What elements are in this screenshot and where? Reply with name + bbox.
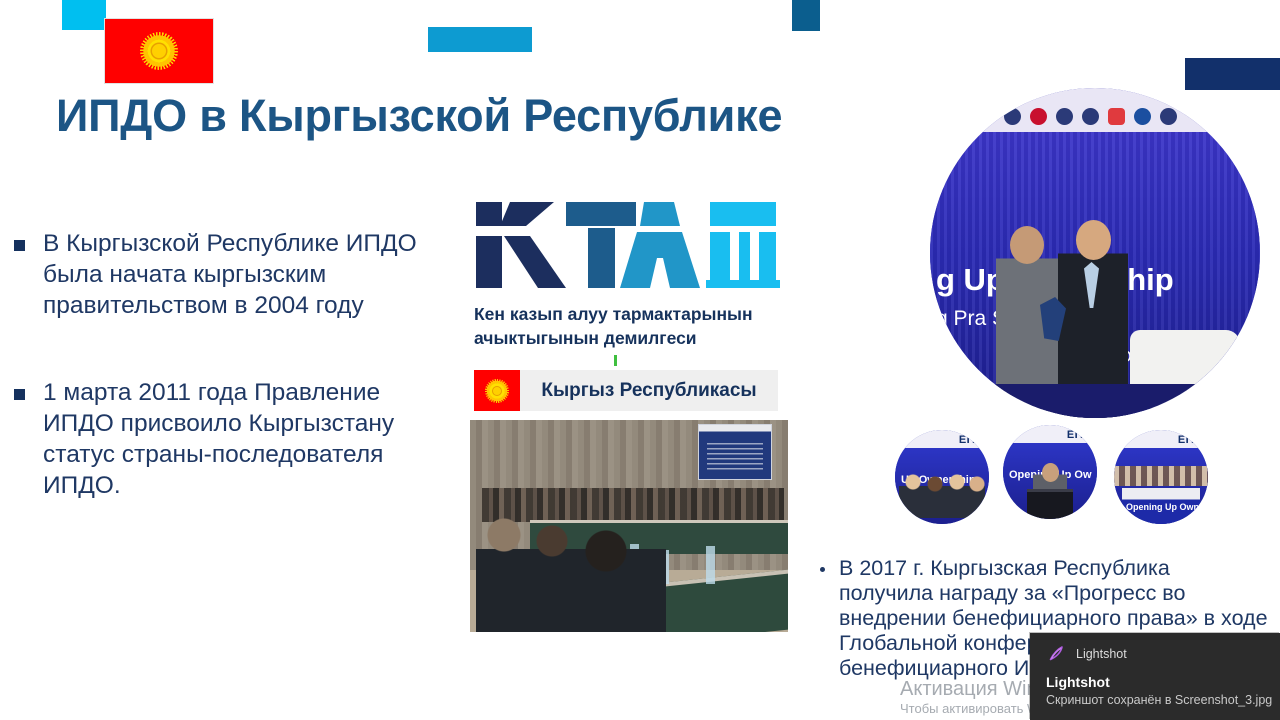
ktad-tagline-line2: ачыктыгынын демилгеси [474, 326, 788, 350]
thumb-caption: Opening Up Ownership [1126, 502, 1208, 512]
decor-square-cyan-small [62, 0, 106, 30]
ktad-logo-block: Кен казып алуу тармактарынын ачыктыгынын… [468, 190, 788, 412]
kyrgyz-republic-badge: Кыргыз Республикасы [474, 370, 778, 411]
decor-rect-blue-small [792, 0, 820, 31]
thumb-backdrop: Opening Up Ow [1003, 443, 1097, 519]
photo-foreground-delegates [476, 517, 666, 632]
bullet-square-icon [14, 240, 25, 251]
thumb-backdrop: Opening Up Ownership [1114, 448, 1208, 524]
kyrgyz-eiti-roundtable-photo [470, 420, 788, 632]
thumb-stage-screen: Opening Up Ownership [1122, 488, 1200, 524]
thumb-podium [1027, 489, 1073, 519]
thumb-speaker-podium: EITI Opening Up Ow [1003, 425, 1097, 519]
thumb-band-label: EITI [1067, 429, 1089, 441]
bullet-list-left: В Кыргызской Республике ИПДО была начата… [14, 228, 460, 557]
presentation-slide: ИПДО в Кыргызской Республике В Кыргызско… [0, 0, 1280, 720]
decor-rect-cyan-medium [428, 27, 532, 52]
flag-sun-emblem [140, 32, 178, 70]
thumb-band-label: EITI [1178, 434, 1200, 446]
kyrgyzstan-flag-icon [104, 18, 214, 84]
ktad-divider [614, 355, 617, 366]
page-title: ИПДО в Кыргызской Республике [56, 90, 782, 142]
toast-message: Скриншот сохранён в Screenshot_3.jpg [1030, 690, 1280, 707]
thumb-people [899, 472, 985, 518]
ktad-tagline-line1: Кен казып алуу тармактарынын [474, 302, 788, 326]
toast-title: Lightshot [1030, 662, 1280, 690]
eiti-award-ceremony-photo: g Up Ownership g Pra Systems a, 23 - 24 … [930, 88, 1260, 418]
photo-stage-floor [930, 384, 1260, 418]
bullet-text: В Кыргызской Республике ИПДО была начата… [43, 228, 443, 321]
lightshot-feather-icon [1048, 645, 1065, 662]
photo-sponsor-logos [978, 105, 1218, 127]
thumb-ceiling-lights [1114, 466, 1208, 486]
thumb-band-label: EITI [959, 434, 981, 446]
photo-stage-backdrop: g Up Ownership g Pra Systems a, 23 - 24 … [930, 132, 1260, 418]
thumb-conference-hall: EITI Opening Up Ownership [1114, 430, 1208, 524]
ktad-wordmark-icon [474, 196, 782, 294]
decor-rect-navy-medium [1185, 58, 1280, 90]
bullet-square-icon [14, 389, 25, 400]
bullet-text: 1 марта 2011 года Правление ИПДО присвои… [43, 377, 443, 501]
thumb-backdrop: Up Ownership [895, 448, 989, 524]
ktad-tagline: Кен казып алуу тармактарынын ачыктыгынын… [468, 302, 788, 350]
list-item: 1 марта 2011 года Правление ИПДО присвои… [14, 377, 460, 501]
thumb-group-award: EITI Up Ownership [895, 430, 989, 524]
lightshot-notification-toast[interactable]: Lightshot Lightshot Скриншот сохранён в … [1030, 633, 1280, 720]
badge-flag-icon [474, 370, 520, 411]
photo-poster [698, 424, 772, 480]
toast-app-label: Lightshot [1076, 647, 1127, 661]
toast-header: Lightshot [1030, 633, 1280, 662]
badge-flag-sun [485, 379, 509, 403]
bullet-dot-icon [820, 567, 825, 572]
list-item: В Кыргызской Республике ИПДО была начата… [14, 228, 460, 321]
badge-label: Кыргыз Республикасы [520, 370, 778, 411]
